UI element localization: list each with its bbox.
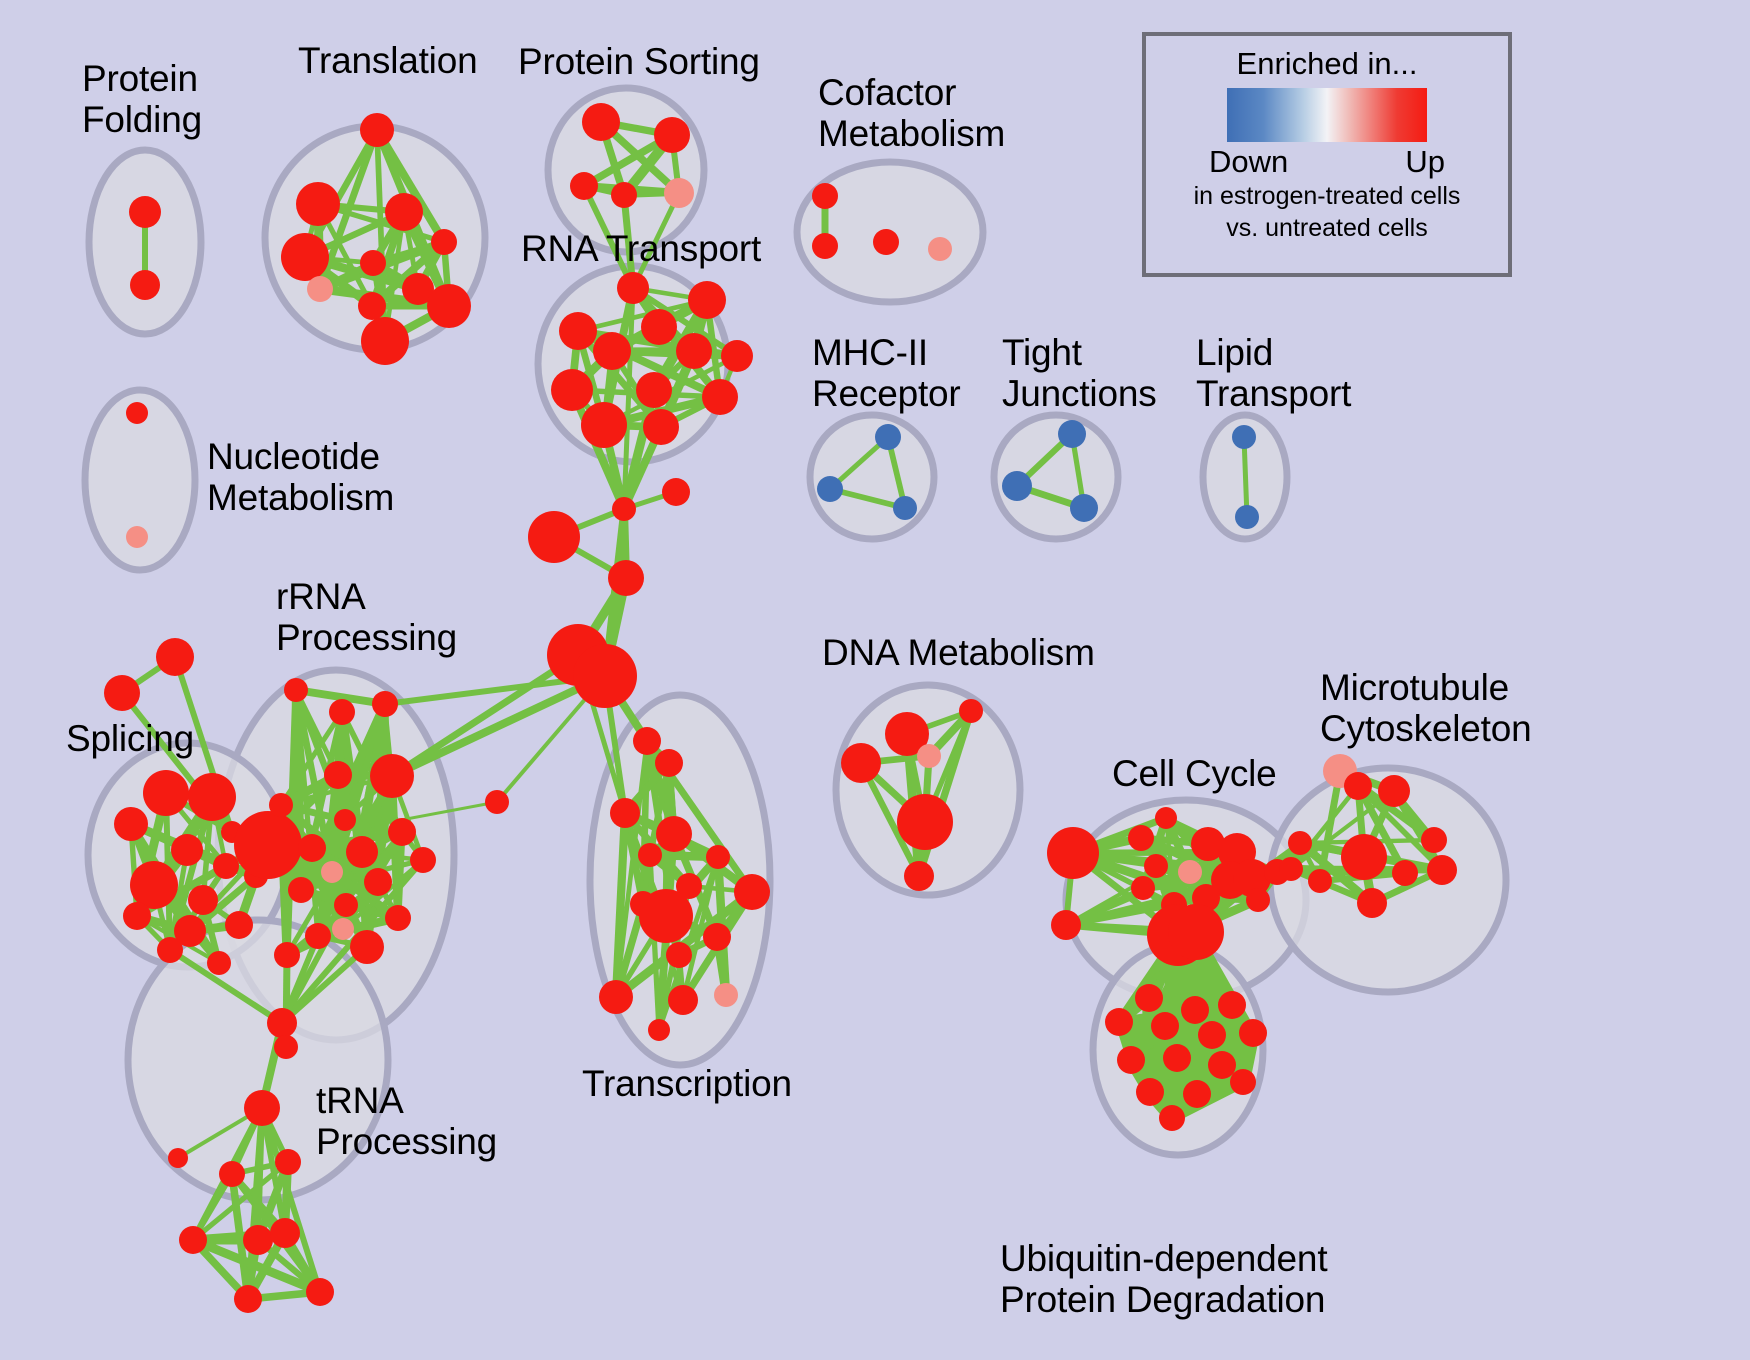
legend-panel: Enriched in... Down Up in estrogen-treat… <box>1142 32 1512 277</box>
network-node[interactable] <box>360 250 386 276</box>
network-node[interactable] <box>1070 494 1098 522</box>
network-node[interactable] <box>668 985 698 1015</box>
network-node[interactable] <box>655 749 683 777</box>
network-node[interactable] <box>875 424 901 450</box>
network-node[interactable] <box>1232 425 1256 449</box>
network-node[interactable] <box>656 816 692 852</box>
network-node[interactable] <box>573 644 637 708</box>
network-node[interactable] <box>332 918 354 940</box>
network-node[interactable] <box>372 691 398 717</box>
network-node[interactable] <box>1183 1080 1211 1108</box>
network-node[interactable] <box>267 1008 297 1038</box>
network-node[interactable] <box>156 638 194 676</box>
network-node[interactable] <box>129 196 161 228</box>
network-node[interactable] <box>654 117 690 153</box>
network-node[interactable] <box>126 526 148 548</box>
network-node[interactable] <box>1135 984 1163 1012</box>
network-node[interactable] <box>812 183 838 209</box>
network-node[interactable] <box>1105 1008 1133 1036</box>
network-node[interactable] <box>1421 827 1447 853</box>
network-node[interactable] <box>329 699 355 725</box>
network-node[interactable] <box>817 476 843 502</box>
network-node[interactable] <box>582 103 620 141</box>
cluster-label-cell-cycle: Cell Cycle <box>1112 753 1277 794</box>
network-node[interactable] <box>1047 827 1099 879</box>
network-node[interactable] <box>1279 857 1303 881</box>
legend-down-label: Down <box>1209 144 1288 180</box>
cluster-label-rrna-processing: rRNA Processing <box>276 576 457 659</box>
network-node[interactable] <box>1181 996 1209 1024</box>
network-node[interactable] <box>179 1226 207 1254</box>
cluster-label-nucleotide-metabolism: Nucleotide Metabolism <box>207 436 394 519</box>
network-node[interactable] <box>633 727 661 755</box>
network-node[interactable] <box>643 409 679 445</box>
network-node[interactable] <box>385 905 411 931</box>
network-node[interactable] <box>528 511 580 563</box>
network-node[interactable] <box>812 233 838 259</box>
cluster-label-translation: Translation <box>298 40 477 81</box>
network-node[interactable] <box>648 1019 670 1041</box>
network-node[interactable] <box>388 818 416 846</box>
network-node[interactable] <box>904 861 934 891</box>
network-node[interactable] <box>1051 910 1081 940</box>
cluster-label-dna-metabolism: DNA Metabolism <box>822 632 1095 673</box>
network-node[interactable] <box>610 798 640 828</box>
network-node[interactable] <box>841 743 881 783</box>
network-node[interactable] <box>703 923 731 951</box>
network-node[interactable] <box>721 340 753 372</box>
network-node[interactable] <box>307 276 333 302</box>
network-node[interactable] <box>281 233 329 281</box>
cluster-label-ubiquitin-degradation: Ubiquitin-dependent Protein Degradation <box>1000 1238 1327 1321</box>
network-edge <box>392 655 578 776</box>
network-node[interactable] <box>126 402 148 424</box>
network-node[interactable] <box>188 773 236 821</box>
network-node[interactable] <box>324 761 352 789</box>
network-node[interactable] <box>360 113 394 147</box>
network-node[interactable] <box>244 1090 280 1126</box>
network-node[interactable] <box>581 402 627 448</box>
legend-up-label: Up <box>1405 144 1445 180</box>
network-node[interactable] <box>664 178 694 208</box>
network-node[interactable] <box>1178 860 1202 884</box>
network-node[interactable] <box>171 834 203 866</box>
network-node[interactable] <box>676 333 712 369</box>
cluster-label-splicing: Splicing <box>66 718 194 759</box>
network-node[interactable] <box>361 317 409 365</box>
network-node[interactable] <box>1198 1021 1226 1049</box>
legend-subtitle-line2: vs. untreated cells <box>1226 214 1428 244</box>
network-node[interactable] <box>350 930 384 964</box>
network-node[interactable] <box>1151 1012 1179 1040</box>
network-node[interactable] <box>612 497 636 521</box>
network-node[interactable] <box>1136 1078 1164 1106</box>
cluster-label-protein-sorting: Protein Sorting <box>518 41 760 82</box>
network-node[interactable] <box>641 309 677 345</box>
network-node[interactable] <box>114 807 148 841</box>
legend-title: Enriched in... <box>1237 46 1418 82</box>
network-edge <box>1244 437 1247 517</box>
network-node[interactable] <box>321 861 343 883</box>
network-node[interactable] <box>1155 807 1177 829</box>
network-node[interactable] <box>334 893 358 917</box>
network-node[interactable] <box>1392 860 1418 886</box>
network-node[interactable] <box>234 811 302 879</box>
network-node[interactable] <box>225 911 253 939</box>
network-node[interactable] <box>714 983 738 1007</box>
network-node[interactable] <box>1168 904 1224 960</box>
network-node[interactable] <box>688 281 726 319</box>
network-node[interactable] <box>104 675 140 711</box>
network-node[interactable] <box>123 902 151 930</box>
network-node[interactable] <box>1235 505 1259 529</box>
network-node[interactable] <box>1131 876 1155 900</box>
network-node[interactable] <box>1128 825 1154 851</box>
cluster-label-trna-processing: tRNA Processing <box>316 1080 497 1163</box>
network-node[interactable] <box>917 744 941 768</box>
network-node[interactable] <box>893 496 917 520</box>
cluster-label-microtubule-cytoskeleton: Microtubule Cytoskeleton <box>1320 667 1532 750</box>
cluster-label-mhc-ii-receptor: MHC-II Receptor <box>812 332 961 415</box>
network-node[interactable] <box>617 272 649 304</box>
network-node[interactable] <box>599 980 633 1014</box>
network-node[interactable] <box>305 923 331 949</box>
network-node[interactable] <box>427 284 471 328</box>
network-node[interactable] <box>270 1218 300 1248</box>
network-node[interactable] <box>410 847 436 873</box>
legend-subtitle-line1: in estrogen-treated cells <box>1194 182 1461 212</box>
network-node[interactable] <box>188 885 218 915</box>
network-node[interactable] <box>207 951 231 975</box>
network-node[interactable] <box>928 237 952 261</box>
legend-end-labels: Down Up <box>1209 144 1445 180</box>
network-node[interactable] <box>1218 991 1246 1019</box>
network-node[interactable] <box>570 172 598 200</box>
network-node[interactable] <box>1288 831 1312 855</box>
network-node[interactable] <box>358 292 386 320</box>
network-node[interactable] <box>873 229 899 255</box>
cluster-label-rna-transport: RNA Transport <box>521 228 761 269</box>
network-node[interactable] <box>1230 1069 1256 1095</box>
network-node[interactable] <box>213 853 239 879</box>
network-node[interactable] <box>364 868 392 896</box>
network-node[interactable] <box>662 478 690 506</box>
network-node[interactable] <box>1308 869 1332 893</box>
network-node[interactable] <box>702 379 738 415</box>
network-node[interactable] <box>275 1149 301 1175</box>
network-node[interactable] <box>1427 855 1457 885</box>
network-node[interactable] <box>298 834 326 862</box>
network-node[interactable] <box>431 229 457 255</box>
network-node[interactable] <box>306 1278 334 1306</box>
cluster-label-cofactor-metabolism: Cofactor Metabolism <box>818 72 1005 155</box>
enrichment-map-figure: Protein FoldingTranslationProtein Sortin… <box>0 0 1750 1360</box>
network-node[interactable] <box>370 754 414 798</box>
network-node[interactable] <box>638 843 662 867</box>
network-node[interactable] <box>485 790 509 814</box>
network-node[interactable] <box>1378 775 1410 807</box>
legend-color-gradient <box>1227 88 1427 142</box>
network-node[interactable] <box>274 1035 298 1059</box>
network-node[interactable] <box>559 312 597 350</box>
network-node[interactable] <box>168 1148 188 1168</box>
network-node[interactable] <box>1058 420 1086 448</box>
network-node[interactable] <box>1344 772 1372 800</box>
network-node[interactable] <box>593 332 631 370</box>
network-node[interactable] <box>346 836 378 868</box>
network-node[interactable] <box>1341 834 1387 880</box>
network-node[interactable] <box>734 874 770 910</box>
network-node[interactable] <box>897 794 953 850</box>
network-node[interactable] <box>551 369 593 411</box>
network-node[interactable] <box>274 942 300 968</box>
network-node[interactable] <box>1117 1046 1145 1074</box>
network-node[interactable] <box>385 193 423 231</box>
network-node[interactable] <box>636 372 672 408</box>
network-node[interactable] <box>1144 854 1168 878</box>
network-node[interactable] <box>1002 471 1032 501</box>
network-node[interactable] <box>608 560 644 596</box>
network-node[interactable] <box>1357 888 1387 918</box>
network-node[interactable] <box>706 845 730 869</box>
cluster-label-lipid-transport: Lipid Transport <box>1196 332 1351 415</box>
network-node[interactable] <box>1246 888 1270 912</box>
cluster-label-transcription: Transcription <box>582 1063 792 1104</box>
network-node[interactable] <box>243 1225 273 1255</box>
network-node[interactable] <box>639 889 693 943</box>
network-node[interactable] <box>334 809 356 831</box>
network-node[interactable] <box>611 182 637 208</box>
network-node[interactable] <box>143 770 189 816</box>
network-node[interactable] <box>959 699 983 723</box>
network-node[interactable] <box>130 861 178 909</box>
network-node[interactable] <box>288 877 314 903</box>
network-node[interactable] <box>219 1161 245 1187</box>
network-node[interactable] <box>1163 1044 1191 1072</box>
network-node[interactable] <box>296 182 340 226</box>
cluster-label-tight-junctions: Tight Junctions <box>1002 332 1157 415</box>
network-node[interactable] <box>284 678 308 702</box>
network-node[interactable] <box>1239 1019 1267 1047</box>
network-node[interactable] <box>130 270 160 300</box>
network-node[interactable] <box>1208 1051 1236 1079</box>
network-node[interactable] <box>157 937 183 963</box>
network-node[interactable] <box>269 793 293 817</box>
network-node[interactable] <box>234 1285 262 1313</box>
network-node[interactable] <box>666 942 692 968</box>
cluster-label-protein-folding: Protein Folding <box>82 58 202 141</box>
network-node[interactable] <box>1159 1105 1185 1131</box>
